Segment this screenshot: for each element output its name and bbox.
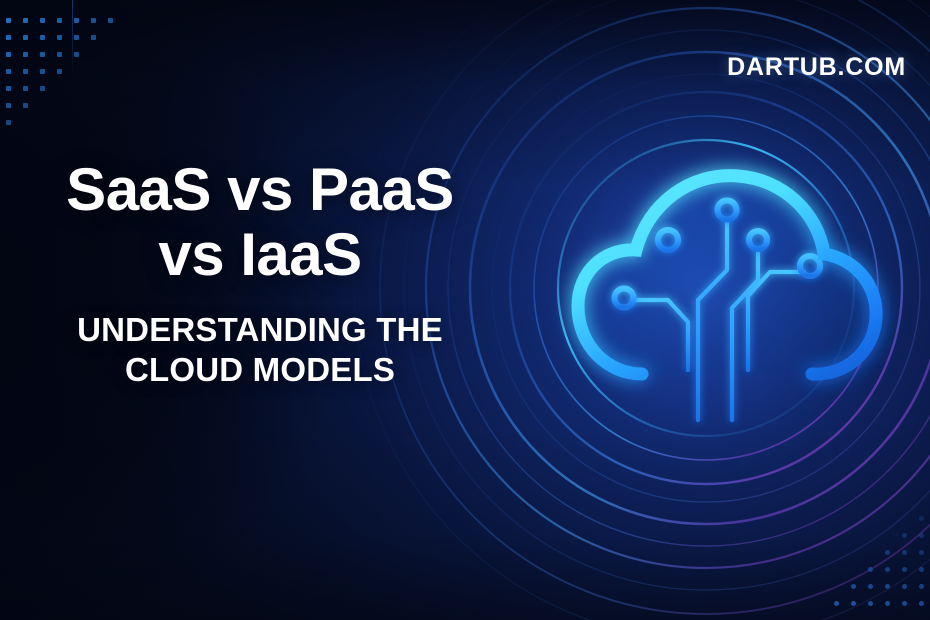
page-title: SaaS vs PaaS vs IaaS (0, 158, 520, 288)
poster-canvas: DARTUB.COM SaaS vs PaaS vs IaaS UNDERSTA… (0, 0, 930, 620)
page-subtitle: UNDERSTANDING THE CLOUD MODELS (0, 310, 520, 391)
accent-line-top-left (72, 0, 73, 74)
subhead-line-1: UNDERSTANDING THE (0, 310, 520, 350)
watermark-text: DARTUB.COM (727, 53, 906, 82)
headline-line-2: vs IaaS (0, 223, 520, 288)
subhead-line-2: CLOUD MODELS (0, 350, 520, 390)
headline-line-1: SaaS vs PaaS (0, 158, 520, 223)
text-block: SaaS vs PaaS vs IaaS UNDERSTANDING THE C… (0, 158, 520, 390)
